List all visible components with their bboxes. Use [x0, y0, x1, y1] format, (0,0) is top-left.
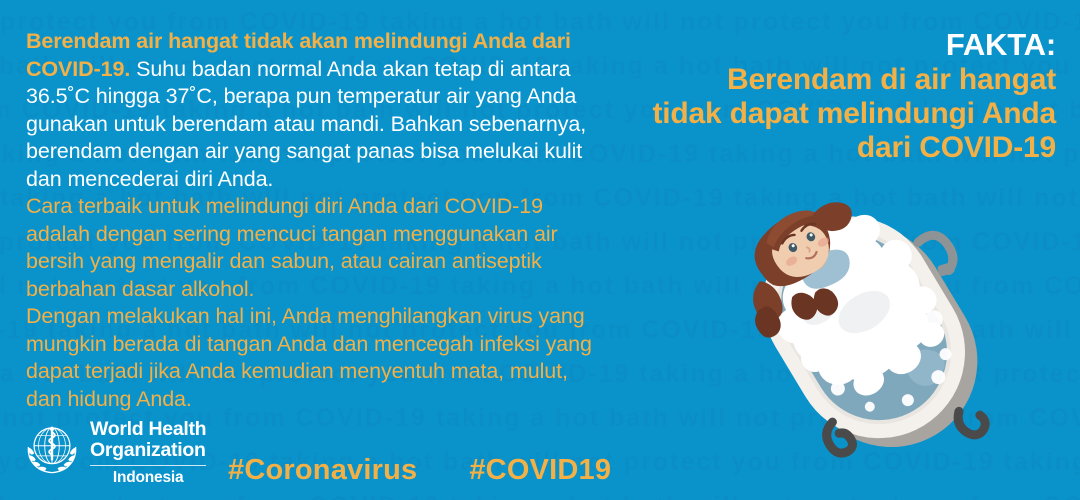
headline-block: FAKTA: Berendam di air hangat tidak dapa… — [616, 26, 1056, 165]
who-emblem-icon — [24, 420, 80, 481]
who-logo: World Health Organization Indonesia — [24, 418, 206, 487]
body-copy-block: Berendam air hangat tidak akan melindung… — [26, 28, 606, 413]
woman-in-bathtub-illustration — [732, 168, 1062, 468]
body-paragraph-3: Dengan melakukan hal ini, Anda menghilan… — [26, 303, 606, 413]
who-name-line-2: Organization — [90, 440, 206, 461]
headline-line-2: tidak dapat melindungi Anda — [616, 97, 1056, 131]
who-divider — [90, 465, 206, 467]
hashtag-group: #Coronavirus #COVID19 — [228, 454, 611, 486]
hashtag-covid19[interactable]: #COVID19 — [469, 454, 611, 486]
watermark-row: hot bath will not protect you from COVID… — [0, 484, 1080, 500]
infographic-poster: protect you from COVID-19 taking a hot b… — [0, 0, 1080, 500]
headline-line-fakta: FAKTA: — [616, 26, 1056, 63]
who-country-label: Indonesia — [90, 469, 206, 486]
hashtag-coronavirus[interactable]: #Coronavirus — [228, 454, 417, 486]
who-name-line-1: World Health — [90, 419, 206, 440]
body-paragraph-2: Cara terbaik untuk melindungi diri Anda … — [26, 193, 606, 303]
headline-line-3: dari COVID-19 — [616, 131, 1056, 165]
who-wordmark: World Health Organization Indonesia — [90, 418, 206, 487]
headline-line-1: Berendam di air hangat — [616, 63, 1056, 97]
body-paragraph-1: Berendam air hangat tidak akan melindung… — [26, 28, 606, 193]
